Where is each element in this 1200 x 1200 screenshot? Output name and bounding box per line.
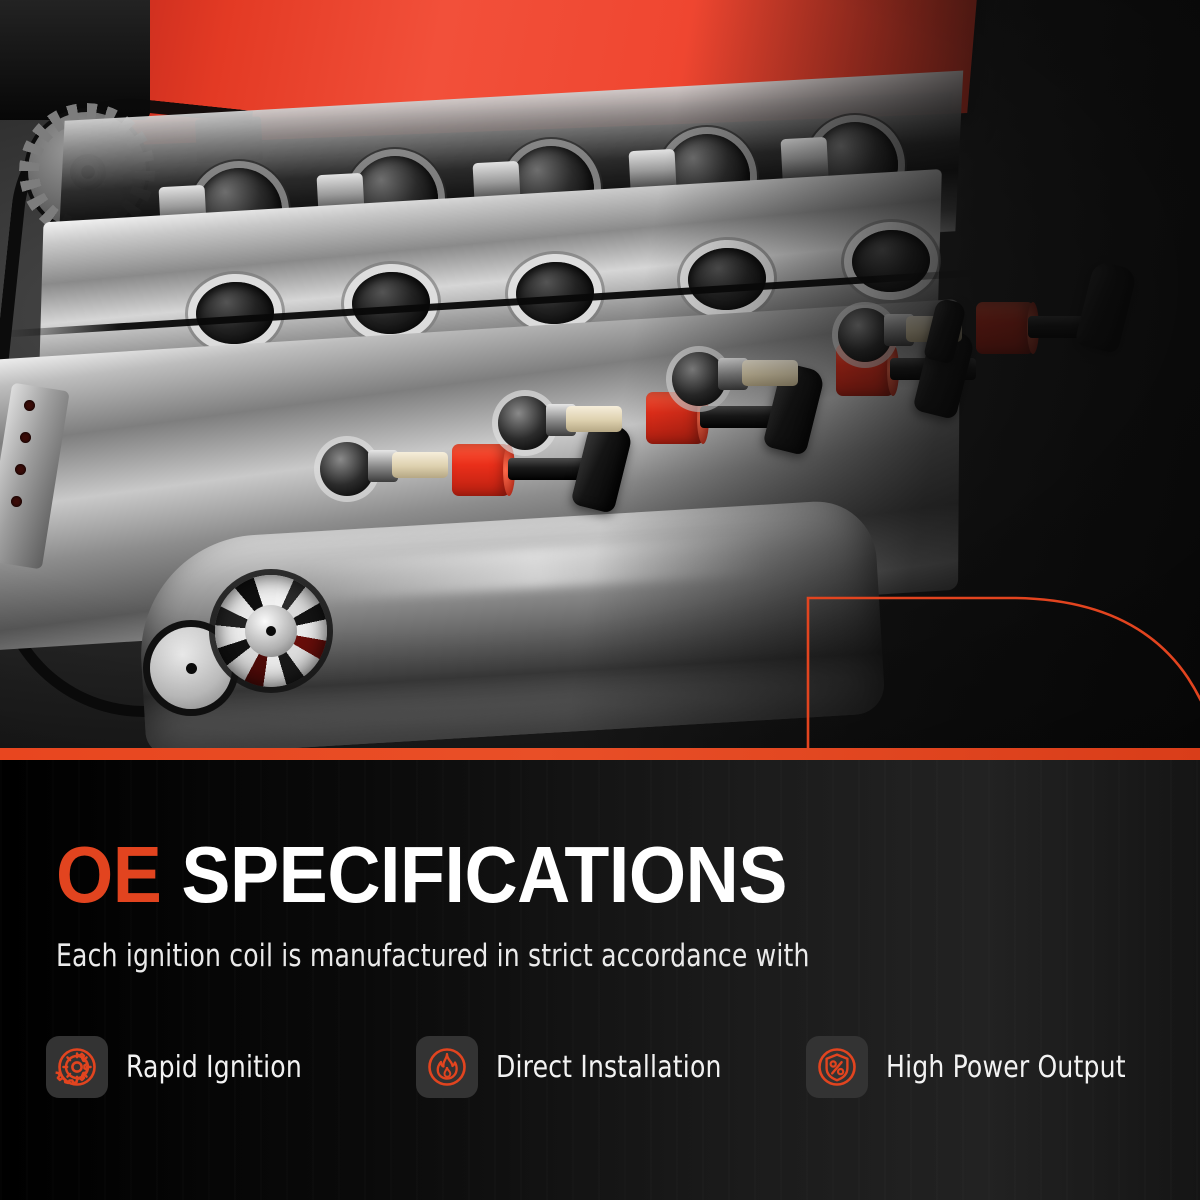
feature-list: Rapid Ignition Direct Installation	[46, 1022, 1166, 1112]
feature-item-direct-installation: Direct Installation	[416, 1036, 806, 1098]
feature-label: Rapid Ignition	[126, 1050, 302, 1085]
product-banner: OE SPECIFICATIONS Each ignition coil is …	[0, 0, 1200, 1200]
page-title: OE SPECIFICATIONS	[56, 835, 787, 915]
title-accent: OE	[56, 830, 161, 919]
feature-label: High Power Output	[886, 1050, 1126, 1085]
flame-icon	[416, 1036, 478, 1098]
subtitle: Each ignition coil is manufactured in st…	[56, 938, 810, 974]
gear-icon	[46, 1036, 108, 1098]
feature-item-high-power-output: High Power Output	[806, 1036, 1166, 1098]
accent-divider	[0, 748, 1200, 760]
title-main: SPECIFICATIONS	[181, 830, 787, 919]
hero-vignette	[0, 0, 1200, 748]
hero-image	[0, 0, 1200, 748]
feature-label: Direct Installation	[496, 1050, 722, 1085]
shield-percent-icon	[806, 1036, 868, 1098]
info-panel: OE SPECIFICATIONS Each ignition coil is …	[0, 760, 1200, 1200]
panel-texture	[0, 760, 1200, 1200]
feature-item-rapid-ignition: Rapid Ignition	[46, 1036, 416, 1098]
